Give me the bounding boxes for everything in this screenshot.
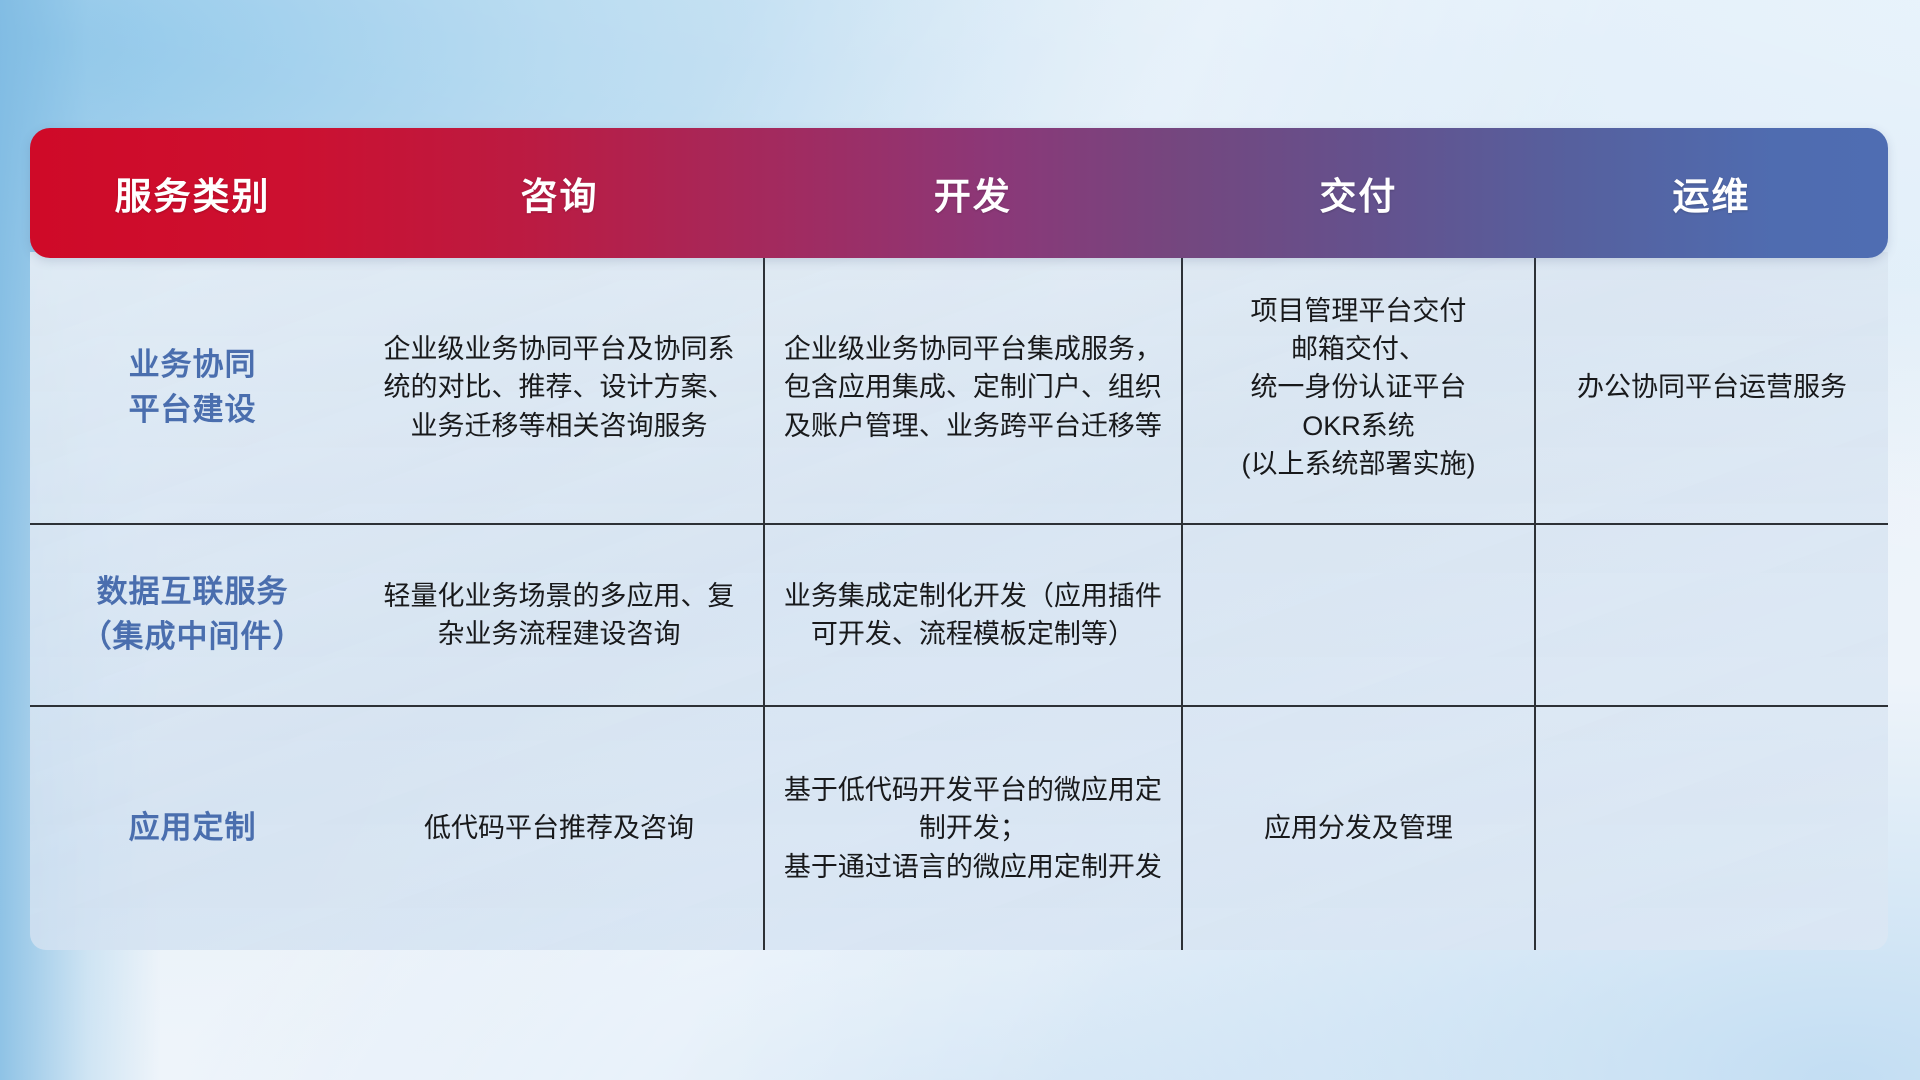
- cell-data-interconnect-consulting: 轻量化业务场景的多应用、复 杂业务流程建设咨询: [355, 524, 764, 705]
- row-label-data-interconnect: 数据互联服务 （集成中间件）: [30, 524, 355, 705]
- cell-data-interconnect-development: 业务集成定制化开发（应用插件 可开发、流程模板定制等）: [764, 524, 1182, 705]
- cell-business-collaboration-delivery: 项目管理平台交付 邮箱交付、 统一身份认证平台 OKR系统 (以上系统部署实施): [1182, 252, 1535, 524]
- column-header-consulting: 咨询: [355, 166, 764, 220]
- cell-app-customization-development: 基于低代码开发平台的微应用定 制开发； 基于通过语言的微应用定制开发: [764, 706, 1182, 950]
- column-header-development: 开发: [764, 166, 1182, 220]
- table-body-panel: 业务协同 平台建设 企业级业务协同平台及协同系 统的对比、推荐、设计方案、 业务…: [30, 252, 1888, 950]
- row-label-business-collaboration: 业务协同 平台建设: [30, 252, 355, 524]
- column-header-category: 服务类别: [30, 166, 355, 220]
- table-grid: 业务协同 平台建设 企业级业务协同平台及协同系 统的对比、推荐、设计方案、 业务…: [30, 252, 1888, 950]
- table-header-row: 服务类别 咨询 开发 交付 运维: [30, 128, 1888, 258]
- table-row: 数据互联服务 （集成中间件） 轻量化业务场景的多应用、复 杂业务流程建设咨询 业…: [30, 524, 1888, 705]
- cell-app-customization-operations: [1535, 706, 1888, 950]
- table-row: 应用定制 低代码平台推荐及咨询 基于低代码开发平台的微应用定 制开发； 基于通过…: [30, 706, 1888, 950]
- cell-business-collaboration-development: 企业级业务协同平台集成服务， 包含应用集成、定制门户、组织 及账户管理、业务跨平…: [764, 252, 1182, 524]
- service-matrix-table: 服务类别 咨询 开发 交付 运维 业务协同 平台建设 企业级业务协同平台及协同系: [30, 128, 1888, 950]
- cell-data-interconnect-operations: [1535, 524, 1888, 705]
- table-row: 业务协同 平台建设 企业级业务协同平台及协同系 统的对比、推荐、设计方案、 业务…: [30, 252, 1888, 524]
- cell-business-collaboration-consulting: 企业级业务协同平台及协同系 统的对比、推荐、设计方案、 业务迁移等相关咨询服务: [355, 252, 764, 524]
- cell-app-customization-consulting: 低代码平台推荐及咨询: [355, 706, 764, 950]
- cell-data-interconnect-delivery: [1182, 524, 1535, 705]
- row-label-app-customization: 应用定制: [30, 706, 355, 950]
- column-header-delivery: 交付: [1182, 166, 1535, 220]
- cell-app-customization-delivery: 应用分发及管理: [1182, 706, 1535, 950]
- cell-business-collaboration-operations: 办公协同平台运营服务: [1535, 252, 1888, 524]
- column-header-operations: 运维: [1535, 166, 1888, 220]
